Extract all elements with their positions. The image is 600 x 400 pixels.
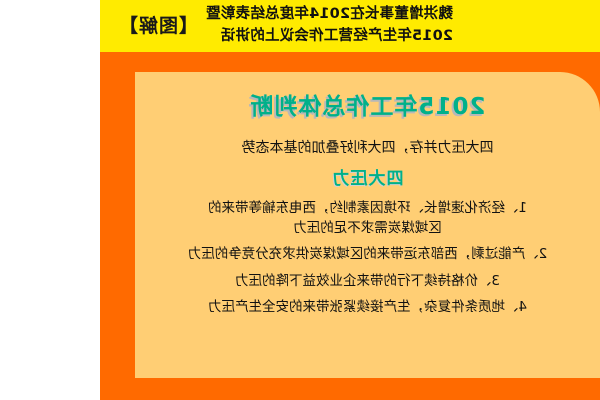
header-title-line-2: 2015年生产经营工作会议上的讲话 bbox=[221, 27, 453, 47]
card-lead-text: 四大压力并存，四大利好叠加的基本态势 bbox=[242, 138, 494, 159]
pressure-list: 1、经济化速增长、环境因素制约，西电东输等带来的 区域煤炭需求不足的压力 2、产… bbox=[161, 199, 574, 318]
list-item-line: 2、产能过剩，西部东运带来的区域煤炭供求充分竞争的压力 bbox=[188, 245, 548, 265]
card-title: 2015年工作总体判断 bbox=[250, 94, 486, 122]
list-item: 4、地质条件复杂，生产接续紧张带来的安全生产压力 bbox=[208, 298, 527, 318]
list-item: 3、价格持续下行的带来企业效益下降的压力 bbox=[235, 272, 500, 292]
list-item: 1、经济化速增长、环境因素制约，西电东输等带来的 区域煤炭需求不足的压力 bbox=[208, 199, 527, 238]
list-item-line: 1、经济化速增长、环境因素制约，西电东输等带来的 bbox=[208, 199, 527, 219]
list-item-line: 4、地质条件复杂，生产接续紧张带来的安全生产压力 bbox=[208, 298, 527, 318]
list-item-line: 3、价格持续下行的带来企业效益下降的压力 bbox=[235, 272, 500, 292]
section-heading-four-pressures: 四大压力 bbox=[332, 169, 404, 189]
list-item: 2、产能过剩，西部东运带来的区域煤炭供求充分竞争的压力 bbox=[188, 245, 548, 265]
header-title-group: 魏洪增董事长在2014年度总结表彰暨 2015年生产经营工作会议上的讲话 bbox=[206, 5, 453, 46]
poster: 【图解】 魏洪增董事长在2014年度总结表彰暨 2015年生产经营工作会议上的讲… bbox=[0, 0, 600, 400]
illustrated-badge: 【图解】 bbox=[118, 17, 198, 36]
header-band: 【图解】 魏洪增董事长在2014年度总结表彰暨 2015年生产经营工作会议上的讲… bbox=[100, 0, 600, 52]
list-item-line: 区域煤炭需求不足的压力 bbox=[208, 219, 527, 239]
content-card: 2015年工作总体判断 四大压力并存，四大利好叠加的基本态势 四大压力 1、经济… bbox=[135, 72, 600, 378]
header-title-line-1: 魏洪增董事长在2014年度总结表彰暨 bbox=[206, 5, 453, 25]
